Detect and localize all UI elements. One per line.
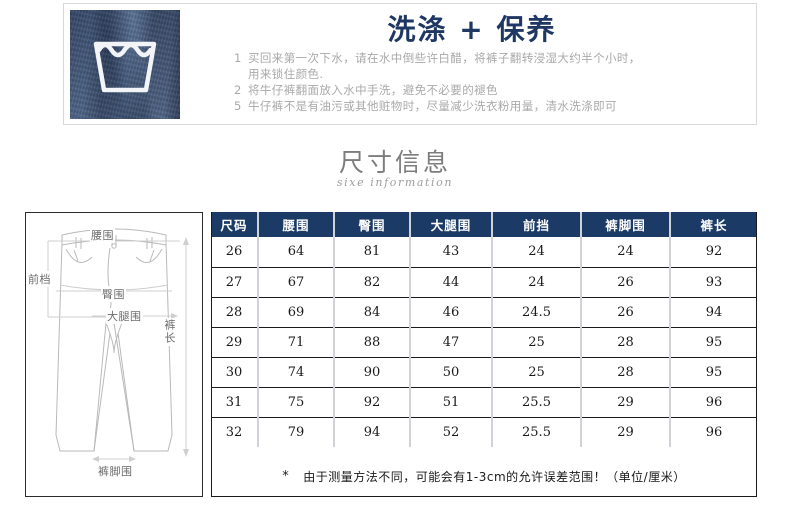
denim-background-image <box>70 10 180 119</box>
table-cell: 44 <box>410 267 492 297</box>
table-header-cell: 腰围 <box>258 212 334 237</box>
care-item-number: 5 <box>234 98 248 114</box>
diagram-label-waist: 腰围 <box>90 227 115 243</box>
table-row: 27 67 82 44 24 26 93 <box>211 267 757 297</box>
table-cell: 64 <box>258 237 334 267</box>
table-row: 30 74 90 50 25 28 95 <box>211 357 757 387</box>
care-instructions-panel: 洗涤 + 保养 1买回来第一次下水，请在水中倒些许白醋，将裤子翻转浸湿大约半个小… <box>63 3 757 125</box>
table-cell: 29 <box>581 417 670 447</box>
table-cell: 27 <box>211 267 258 297</box>
diagram-label-front-rise: 前档 <box>27 271 52 287</box>
care-instruction-item: 1买回来第一次下水，请在水中倒些许白醋，将裤子翻转浸湿大约半个小时， 用来锁住颜… <box>234 50 754 82</box>
table-cell: 28 <box>581 357 670 387</box>
table-cell: 26 <box>581 267 670 297</box>
table-cell: 88 <box>334 327 410 357</box>
table-cell: 24 <box>492 267 581 297</box>
note-asterisk-icon: * <box>282 469 289 484</box>
table-header-row: 尺码 腰围 臀围 大腿围 前挡 裤脚围 裤长 <box>211 212 757 237</box>
table-cell: 24 <box>581 237 670 267</box>
table-cell: 95 <box>670 327 757 357</box>
care-instruction-item: 5牛仔裤不是有油污或其他赃物时，尽量减少洗衣粉用量，清水洗涤即可 <box>234 98 754 114</box>
care-item-text: 牛仔裤不是有油污或其他赃物时，尽量减少洗衣粉用量，清水洗涤即可 <box>248 99 617 113</box>
table-cell: 92 <box>670 237 757 267</box>
care-instruction-item: 2将牛仔裤翻面放入水中手洗，避免不必要的褪色 <box>234 82 754 98</box>
table-cell: 28 <box>211 297 258 327</box>
table-cell: 32 <box>211 417 258 447</box>
diagram-label-hip: 臀围 <box>101 286 126 302</box>
care-item-number: 2 <box>234 82 248 98</box>
care-instruction-list: 1买回来第一次下水，请在水中倒些许白醋，将裤子翻转浸湿大约半个小时， 用来锁住颜… <box>234 50 754 114</box>
note-text: 由于测量方法不同，可能会有1-3cm的允许误差范围！（单位/厘米） <box>303 468 685 485</box>
table-cell: 81 <box>334 237 410 267</box>
table-row: 31 75 92 51 25.5 29 96 <box>211 387 757 417</box>
table-cell: 74 <box>258 357 334 387</box>
table-cell: 24 <box>492 237 581 267</box>
table-cell: 26 <box>211 237 258 267</box>
table-cell: 71 <box>258 327 334 357</box>
table-row: 26 64 81 43 24 24 92 <box>211 237 757 267</box>
care-item-text: 买回来第一次下水，请在水中倒些许白醋，将裤子翻转浸湿大约半个小时， <box>248 51 641 65</box>
table-row: 32 79 94 52 25.5 29 96 <box>211 417 757 447</box>
table-row: 28 69 84 46 24.5 26 94 <box>211 297 757 327</box>
table-cell: 93 <box>670 267 757 297</box>
table-header-cell: 裤长 <box>670 212 757 237</box>
table-cell: 96 <box>670 417 757 447</box>
table-cell: 50 <box>410 357 492 387</box>
table-cell: 79 <box>258 417 334 447</box>
care-item-continuation: 用来锁住颜色. <box>234 66 754 82</box>
table-cell: 25 <box>492 327 581 357</box>
table-cell: 95 <box>670 357 757 387</box>
table-header-cell: 前挡 <box>492 212 581 237</box>
table-cell: 94 <box>670 297 757 327</box>
table-cell: 75 <box>258 387 334 417</box>
table-cell: 30 <box>211 357 258 387</box>
size-chart-table: 尺码 腰围 臀围 大腿围 前挡 裤脚围 裤长 26 64 81 43 24 24… <box>211 212 757 447</box>
jeans-outline-drawing <box>26 213 202 496</box>
table-cell: 46 <box>410 297 492 327</box>
table-header-cell: 尺码 <box>211 212 258 237</box>
care-panel-title: 洗涤 + 保养 <box>196 12 748 47</box>
table-cell: 90 <box>334 357 410 387</box>
table-cell: 94 <box>334 417 410 447</box>
table-cell: 25 <box>492 357 581 387</box>
table-cell: 25.5 <box>492 417 581 447</box>
care-item-number: 1 <box>234 50 248 66</box>
table-cell: 69 <box>258 297 334 327</box>
table-cell: 43 <box>410 237 492 267</box>
table-header-cell: 裤脚围 <box>581 212 670 237</box>
table-cell: 31 <box>211 387 258 417</box>
table-cell: 84 <box>334 297 410 327</box>
diagram-label-leg-opening: 裤脚围 <box>97 463 134 479</box>
table-cell: 82 <box>334 267 410 297</box>
table-cell: 92 <box>334 387 410 417</box>
size-section-title: 尺寸信息 <box>0 143 790 179</box>
table-cell: 51 <box>410 387 492 417</box>
table-header-cell: 大腿围 <box>410 212 492 237</box>
table-cell: 52 <box>410 417 492 447</box>
size-section-subtitle: sixe information <box>0 176 790 189</box>
table-cell: 25.5 <box>492 387 581 417</box>
diagram-label-thigh: 大腿围 <box>106 308 143 324</box>
table-cell: 28 <box>581 327 670 357</box>
hand-wash-basin-icon <box>90 34 160 96</box>
table-cell: 96 <box>670 387 757 417</box>
table-header-cell: 臀围 <box>334 212 410 237</box>
diagram-label-length: 裤长 <box>161 318 177 346</box>
table-cell: 29 <box>211 327 258 357</box>
table-cell: 67 <box>258 267 334 297</box>
table-cell: 24.5 <box>492 297 581 327</box>
table-cell: 29 <box>581 387 670 417</box>
table-cell: 47 <box>410 327 492 357</box>
table-row: 29 71 88 47 25 28 95 <box>211 327 757 357</box>
jeans-measurement-diagram: 腰围 前档 臀围 大腿围 裤长 裤脚围 <box>25 212 203 497</box>
table-cell: 26 <box>581 297 670 327</box>
care-item-text: 将牛仔裤翻面放入水中手洗，避免不必要的褪色 <box>248 83 498 97</box>
measurement-tolerance-note: * 由于测量方法不同，可能会有1-3cm的允许误差范围！（单位/厘米） <box>211 455 757 497</box>
